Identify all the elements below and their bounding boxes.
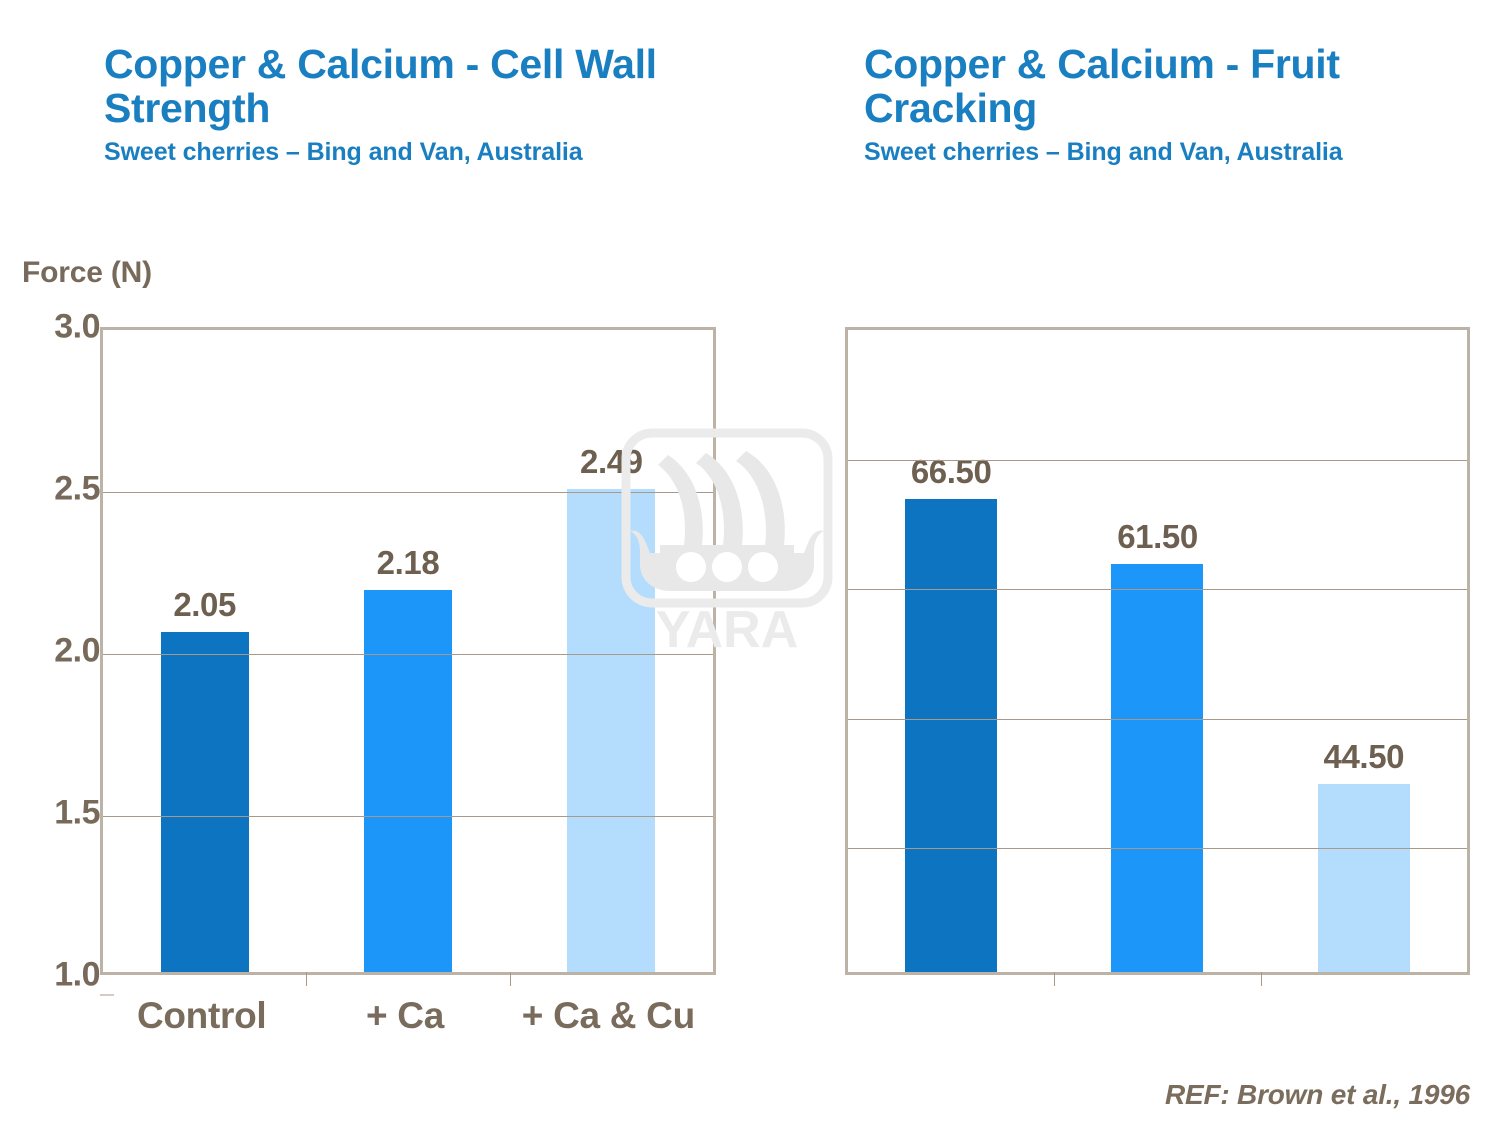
bar[interactable] [364,590,452,972]
chart-panel-cell-wall-strength: Copper & Calcium - Cell Wall Strength Sw… [0,0,750,1125]
gridline [103,816,713,817]
bar-slot: 66.50 [848,330,1054,972]
reference-note: REF: Brown et al., 1996 [1165,1079,1470,1111]
bar-slot: 2.05 [103,330,306,972]
y-tick-label: 3.0 [14,308,100,347]
gridline [103,654,713,655]
bar-value-label: 2.18 [377,544,440,582]
x-category-label: Control [137,995,266,1037]
chart-title-left: Copper & Calcium - Cell Wall Strength [104,42,704,131]
plot-area-right: 66.5061.5044.50 [845,327,1470,975]
bar[interactable] [905,499,997,972]
bar-slot: 61.50 [1054,330,1260,972]
x-tick-mark [306,972,307,986]
x-tick-mark [1261,972,1262,986]
bar-value-label: 2.49 [580,443,643,481]
chart-title-right: Copper & Calcium - Fruit Cracking [864,42,1424,131]
y-tick-label: 2.0 [14,632,100,671]
bar[interactable] [567,489,655,972]
bar[interactable] [1111,564,1203,972]
bar-slot: 2.49 [510,330,713,972]
chart-subtitle-right: Sweet cherries – Bing and Van, Australia [864,137,1424,168]
bar[interactable] [161,632,249,972]
bar-value-label: 2.05 [173,586,236,624]
gridline [848,460,1467,461]
bar-series-left: 2.052.182.49 [103,330,713,972]
x-axis-categories-left: Control+ Ca+ Ca & Cu [100,995,716,1045]
title-block-left: Copper & Calcium - Cell Wall Strength Sw… [104,42,704,167]
bar-slot: 44.50 [1261,330,1467,972]
chart-panel-fruit-cracking: Copper & Calcium - Fruit Cracking Sweet … [750,0,1500,1125]
title-block-right: Copper & Calcium - Fruit Cracking Sweet … [864,42,1424,167]
y-tick-label: 1.0 [14,956,100,995]
x-tick-mark [510,972,511,986]
gridline [848,589,1467,590]
plot-area-left: 2.052.182.49 [100,327,716,975]
gridline [103,492,713,493]
bar-slot: 2.18 [306,330,509,972]
bar-series-right: 66.5061.5044.50 [848,330,1467,972]
bar[interactable] [1318,784,1410,972]
y-axis-title-left: Force (N) [22,256,152,290]
gridline [848,719,1467,720]
bar-value-label: 44.50 [1324,738,1405,776]
x-tick-mark [1054,972,1055,986]
x-category-label: + Ca [366,995,444,1037]
chart-subtitle-left: Sweet cherries – Bing and Van, Australia [104,137,704,168]
y-axis-ticks-left: 1.01.52.02.53.0 [0,327,100,975]
gridline [848,848,1467,849]
y-tick-label: 1.5 [14,794,100,833]
bar-value-label: 61.50 [1117,518,1198,556]
x-category-label: + Ca & Cu [522,995,695,1037]
y-tick-label: 2.5 [14,470,100,509]
